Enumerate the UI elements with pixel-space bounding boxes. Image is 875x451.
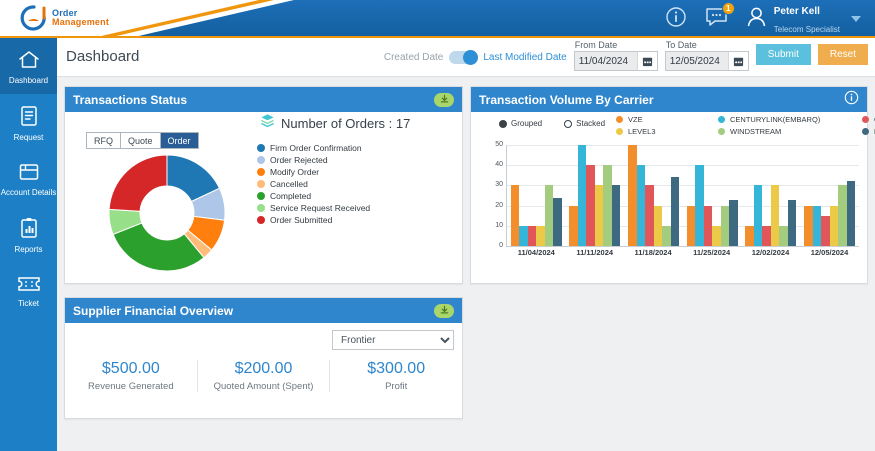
bar-group (569, 145, 620, 246)
transactions-donut-chart (83, 151, 251, 280)
transactions-status-panel: Transactions Status Number of Orders : 1… (64, 86, 463, 284)
kpi-label: Revenue Generated (65, 381, 197, 392)
page-header: Dashboard Created Date Last Modified Dat… (57, 38, 875, 77)
legend-item[interactable]: Completed (257, 191, 370, 201)
sidebar-item-label: Dashboard (9, 77, 48, 86)
transaction-volume-panel: Transaction Volume By Carrier Grouped St… (470, 86, 868, 284)
bar[interactable] (528, 226, 537, 246)
x-axis-tick: 11/25/2024 (693, 248, 730, 257)
carrier-legend-item[interactable]: WINDSTREAM (718, 127, 856, 136)
bar[interactable] (847, 181, 856, 246)
last-modified-date-label[interactable]: Last Modified Date (483, 52, 566, 63)
panel-header: Transactions Status (65, 87, 462, 112)
legend-label: VZE (628, 115, 643, 124)
date-type-toggle-group: Created Date Last Modified Date (384, 51, 567, 71)
kpi-label: Profit (330, 381, 462, 392)
layers-icon (260, 113, 275, 133)
legend-item[interactable]: Order Rejected (257, 155, 370, 165)
legend-label: WINDSTREAM (730, 127, 781, 136)
download-icon[interactable] (434, 304, 454, 318)
from-date-field: From Date (574, 40, 658, 71)
x-axis-tick: 11/11/2024 (576, 248, 613, 257)
carrier-legend-item[interactable]: FRONTIER (862, 127, 875, 136)
header-actions: 1 Peter Kell Telecom Specialist (665, 0, 861, 38)
bar[interactable] (838, 185, 847, 246)
logo-line-2: Management (52, 18, 109, 27)
bar[interactable] (511, 185, 520, 246)
panel-title: Transaction Volume By Carrier (479, 93, 654, 107)
legend-label: Service Request Received (270, 203, 370, 213)
y-axis-tick: 20 (479, 202, 503, 209)
legend-label: Order Submitted (270, 215, 332, 225)
bar-groups (507, 145, 859, 246)
sidebar: Dashboard Request Account Details (0, 38, 57, 451)
sidebar-item-request[interactable]: Request (0, 94, 57, 150)
chat-bubble-icon[interactable]: 1 (705, 7, 728, 32)
bar[interactable] (821, 216, 830, 246)
legend-color-swatch (257, 192, 265, 200)
bar[interactable] (762, 226, 771, 246)
panel-header: Transaction Volume By Carrier (471, 87, 867, 112)
chart-mode-radio-group: Grouped Stacked (499, 119, 605, 128)
main-content: Dashboard Created Date Last Modified Dat… (57, 38, 875, 451)
donut-slice[interactable] (109, 155, 167, 211)
bar-group (745, 145, 796, 246)
document-icon (19, 105, 39, 132)
bar[interactable] (595, 185, 604, 246)
radio-label: Grouped (511, 119, 542, 128)
legend-color-swatch (257, 156, 265, 164)
y-axis-tick: 30 (479, 181, 503, 188)
date-type-toggle[interactable] (449, 51, 477, 64)
segment-order[interactable]: Order (161, 133, 198, 148)
legend-label: CENTURYLINK(EMBARQ) (730, 115, 820, 124)
bar[interactable] (578, 145, 587, 246)
bar[interactable] (745, 226, 754, 246)
bar[interactable] (721, 206, 730, 246)
folder-icon (18, 162, 40, 187)
bar[interactable] (586, 165, 595, 246)
legend-label: Completed (270, 191, 311, 201)
bar-group (804, 145, 855, 246)
radio-label: Stacked (576, 119, 605, 128)
carrier-legend-item[interactable]: VZE (616, 115, 712, 124)
bar[interactable] (754, 185, 763, 246)
bar[interactable] (536, 226, 545, 246)
submit-button[interactable]: Submit (756, 44, 811, 65)
carrier-select[interactable]: Frontier (332, 330, 454, 350)
bar[interactable] (662, 226, 671, 246)
kpi-value: $300.00 (330, 360, 462, 378)
bar[interactable] (671, 177, 680, 246)
bar[interactable] (628, 145, 637, 246)
y-axis-tick: 10 (479, 222, 503, 229)
user-menu[interactable]: Peter Kell Telecom Specialist (746, 1, 861, 38)
panel-title: Supplier Financial Overview (73, 304, 233, 318)
reset-button[interactable]: Reset (818, 44, 868, 65)
legend-item[interactable]: Cancelled (257, 179, 370, 189)
bar[interactable] (654, 206, 663, 246)
sidebar-item-reports[interactable]: Reports (0, 206, 57, 262)
carrier-legend: VZECENTURYLINK(EMBARQ)CINCINNATI BELLLEV… (616, 115, 875, 136)
legend-color-swatch (718, 116, 725, 123)
legend-label: Cancelled (270, 179, 308, 189)
created-date-label[interactable]: Created Date (384, 52, 443, 63)
bar[interactable] (603, 165, 612, 246)
download-icon[interactable] (434, 93, 454, 107)
kpi-revenue-generated: $500.00 Revenue Generated (65, 360, 198, 392)
legend-color-swatch (257, 204, 265, 212)
legend-label: Modify Order (270, 167, 319, 177)
x-axis-tick: 11/04/2024 (518, 248, 555, 257)
bar-group (628, 145, 679, 246)
chevron-down-icon[interactable] (851, 16, 861, 22)
x-axis (506, 246, 859, 247)
app-logo[interactable]: Order Management (20, 4, 109, 32)
home-icon (18, 50, 40, 75)
bar[interactable] (729, 200, 738, 246)
transaction-type-segmented-control: RFQ Quote Order (86, 132, 199, 149)
legend-color-swatch (257, 168, 265, 176)
user-avatar-icon (746, 6, 767, 33)
kpi-quoted-amount: $200.00 Quoted Amount (Spent) (198, 360, 331, 392)
bar[interactable] (779, 226, 788, 246)
sidebar-item-ticket[interactable]: Ticket (0, 262, 57, 318)
app-header: Order Management 1 (0, 0, 875, 38)
x-axis-tick: 12/05/2024 (811, 248, 849, 257)
legend-color-swatch (257, 144, 265, 152)
sidebar-item-label: Ticket (18, 300, 39, 309)
bar[interactable] (545, 185, 554, 246)
filter-toolbar: Created Date Last Modified Date From Dat… (384, 40, 868, 71)
legend-item[interactable]: Service Request Received (257, 203, 370, 213)
user-role: Telecom Specialist (774, 25, 840, 34)
bar[interactable] (695, 165, 704, 246)
y-axis-tick: 50 (479, 141, 503, 148)
donut-legend: Firm Order ConfirmationOrder RejectedMod… (257, 143, 370, 225)
legend-color-swatch (862, 128, 869, 135)
bar[interactable] (612, 185, 621, 246)
ticket-icon (17, 275, 41, 298)
legend-color-swatch (257, 216, 265, 224)
carrier-legend-item[interactable]: CINCINNATI BELL (862, 115, 875, 124)
bar[interactable] (804, 206, 813, 246)
x-axis-labels: 11/04/202411/11/202411/18/202411/25/2024… (507, 248, 859, 257)
radio-stacked[interactable]: Stacked (564, 119, 605, 128)
radio-stacked-marker (564, 120, 572, 128)
segment-quote[interactable]: Quote (121, 133, 161, 148)
user-name: Peter Kell (774, 6, 820, 17)
legend-label: Firm Order Confirmation (270, 143, 362, 153)
info-circle-icon[interactable] (665, 6, 687, 33)
bar[interactable] (788, 200, 797, 246)
info-circle-icon[interactable] (844, 90, 859, 110)
carrier-bar-chart: 0102030405011/04/202411/11/202411/18/202… (479, 145, 861, 265)
orders-count-row: Number of Orders : 17 (260, 113, 410, 133)
kpi-row: $500.00 Revenue Generated $200.00 Quoted… (65, 360, 462, 392)
legend-item[interactable]: Firm Order Confirmation (257, 143, 370, 153)
to-date-label: To Date (665, 40, 749, 50)
bar[interactable] (830, 206, 839, 246)
radio-grouped-marker (499, 120, 507, 128)
legend-color-swatch (616, 128, 623, 135)
legend-label: LEVEL3 (628, 127, 656, 136)
page-title: Dashboard (66, 48, 139, 65)
bar[interactable] (771, 185, 780, 246)
sidebar-item-label: Account Details (1, 189, 57, 198)
bar-group (511, 145, 562, 246)
bar[interactable] (645, 185, 654, 246)
legend-label: Order Rejected (270, 155, 328, 165)
sidebar-item-dashboard[interactable]: Dashboard (0, 38, 57, 94)
bar[interactable] (519, 226, 528, 246)
legend-color-swatch (718, 128, 725, 135)
radio-grouped[interactable]: Grouped (499, 119, 542, 128)
orders-count-text: Number of Orders : 17 (281, 116, 410, 131)
sidebar-item-account-details[interactable]: Account Details (0, 150, 57, 206)
from-date-label: From Date (574, 40, 658, 50)
from-date-input[interactable] (575, 52, 637, 70)
legend-item[interactable]: Modify Order (257, 167, 370, 177)
kpi-value: $500.00 (65, 360, 197, 378)
kpi-value: $200.00 (198, 360, 330, 378)
x-axis-tick: 11/18/2024 (635, 248, 672, 257)
bar[interactable] (637, 165, 646, 246)
legend-color-swatch (862, 116, 869, 123)
kpi-profit: $300.00 Profit (330, 360, 462, 392)
logo-mark-icon (20, 4, 48, 32)
kpi-label: Quoted Amount (Spent) (198, 381, 330, 392)
panel-title: Transactions Status (73, 93, 187, 107)
to-date-field: To Date (665, 40, 749, 71)
clipboard-chart-icon (19, 217, 39, 244)
bar[interactable] (569, 206, 578, 246)
bar-group (687, 145, 738, 246)
to-date-input[interactable] (666, 52, 728, 70)
supplier-financial-overview-panel: Supplier Financial Overview Frontier $50… (64, 297, 463, 419)
sidebar-item-label: Request (14, 134, 44, 143)
y-axis-tick: 0 (479, 242, 503, 249)
carrier-legend-item[interactable]: LEVEL3 (616, 127, 712, 136)
bar[interactable] (553, 198, 562, 246)
chat-badge: 1 (722, 2, 735, 15)
bar[interactable] (712, 226, 721, 246)
legend-color-swatch (257, 180, 265, 188)
legend-item[interactable]: Order Submitted (257, 215, 370, 225)
bar[interactable] (687, 206, 696, 246)
y-axis-tick: 40 (479, 161, 503, 168)
from-date-calendar-icon[interactable] (637, 52, 657, 70)
bar[interactable] (704, 206, 713, 246)
segment-rfq[interactable]: RFQ (87, 133, 121, 148)
carrier-legend-item[interactable]: CENTURYLINK(EMBARQ) (718, 115, 856, 124)
panel-header: Supplier Financial Overview (65, 298, 462, 323)
x-axis-tick: 12/02/2024 (752, 248, 790, 257)
sidebar-item-label: Reports (14, 246, 42, 255)
legend-color-swatch (616, 116, 623, 123)
to-date-calendar-icon[interactable] (728, 52, 748, 70)
bar[interactable] (813, 206, 822, 246)
